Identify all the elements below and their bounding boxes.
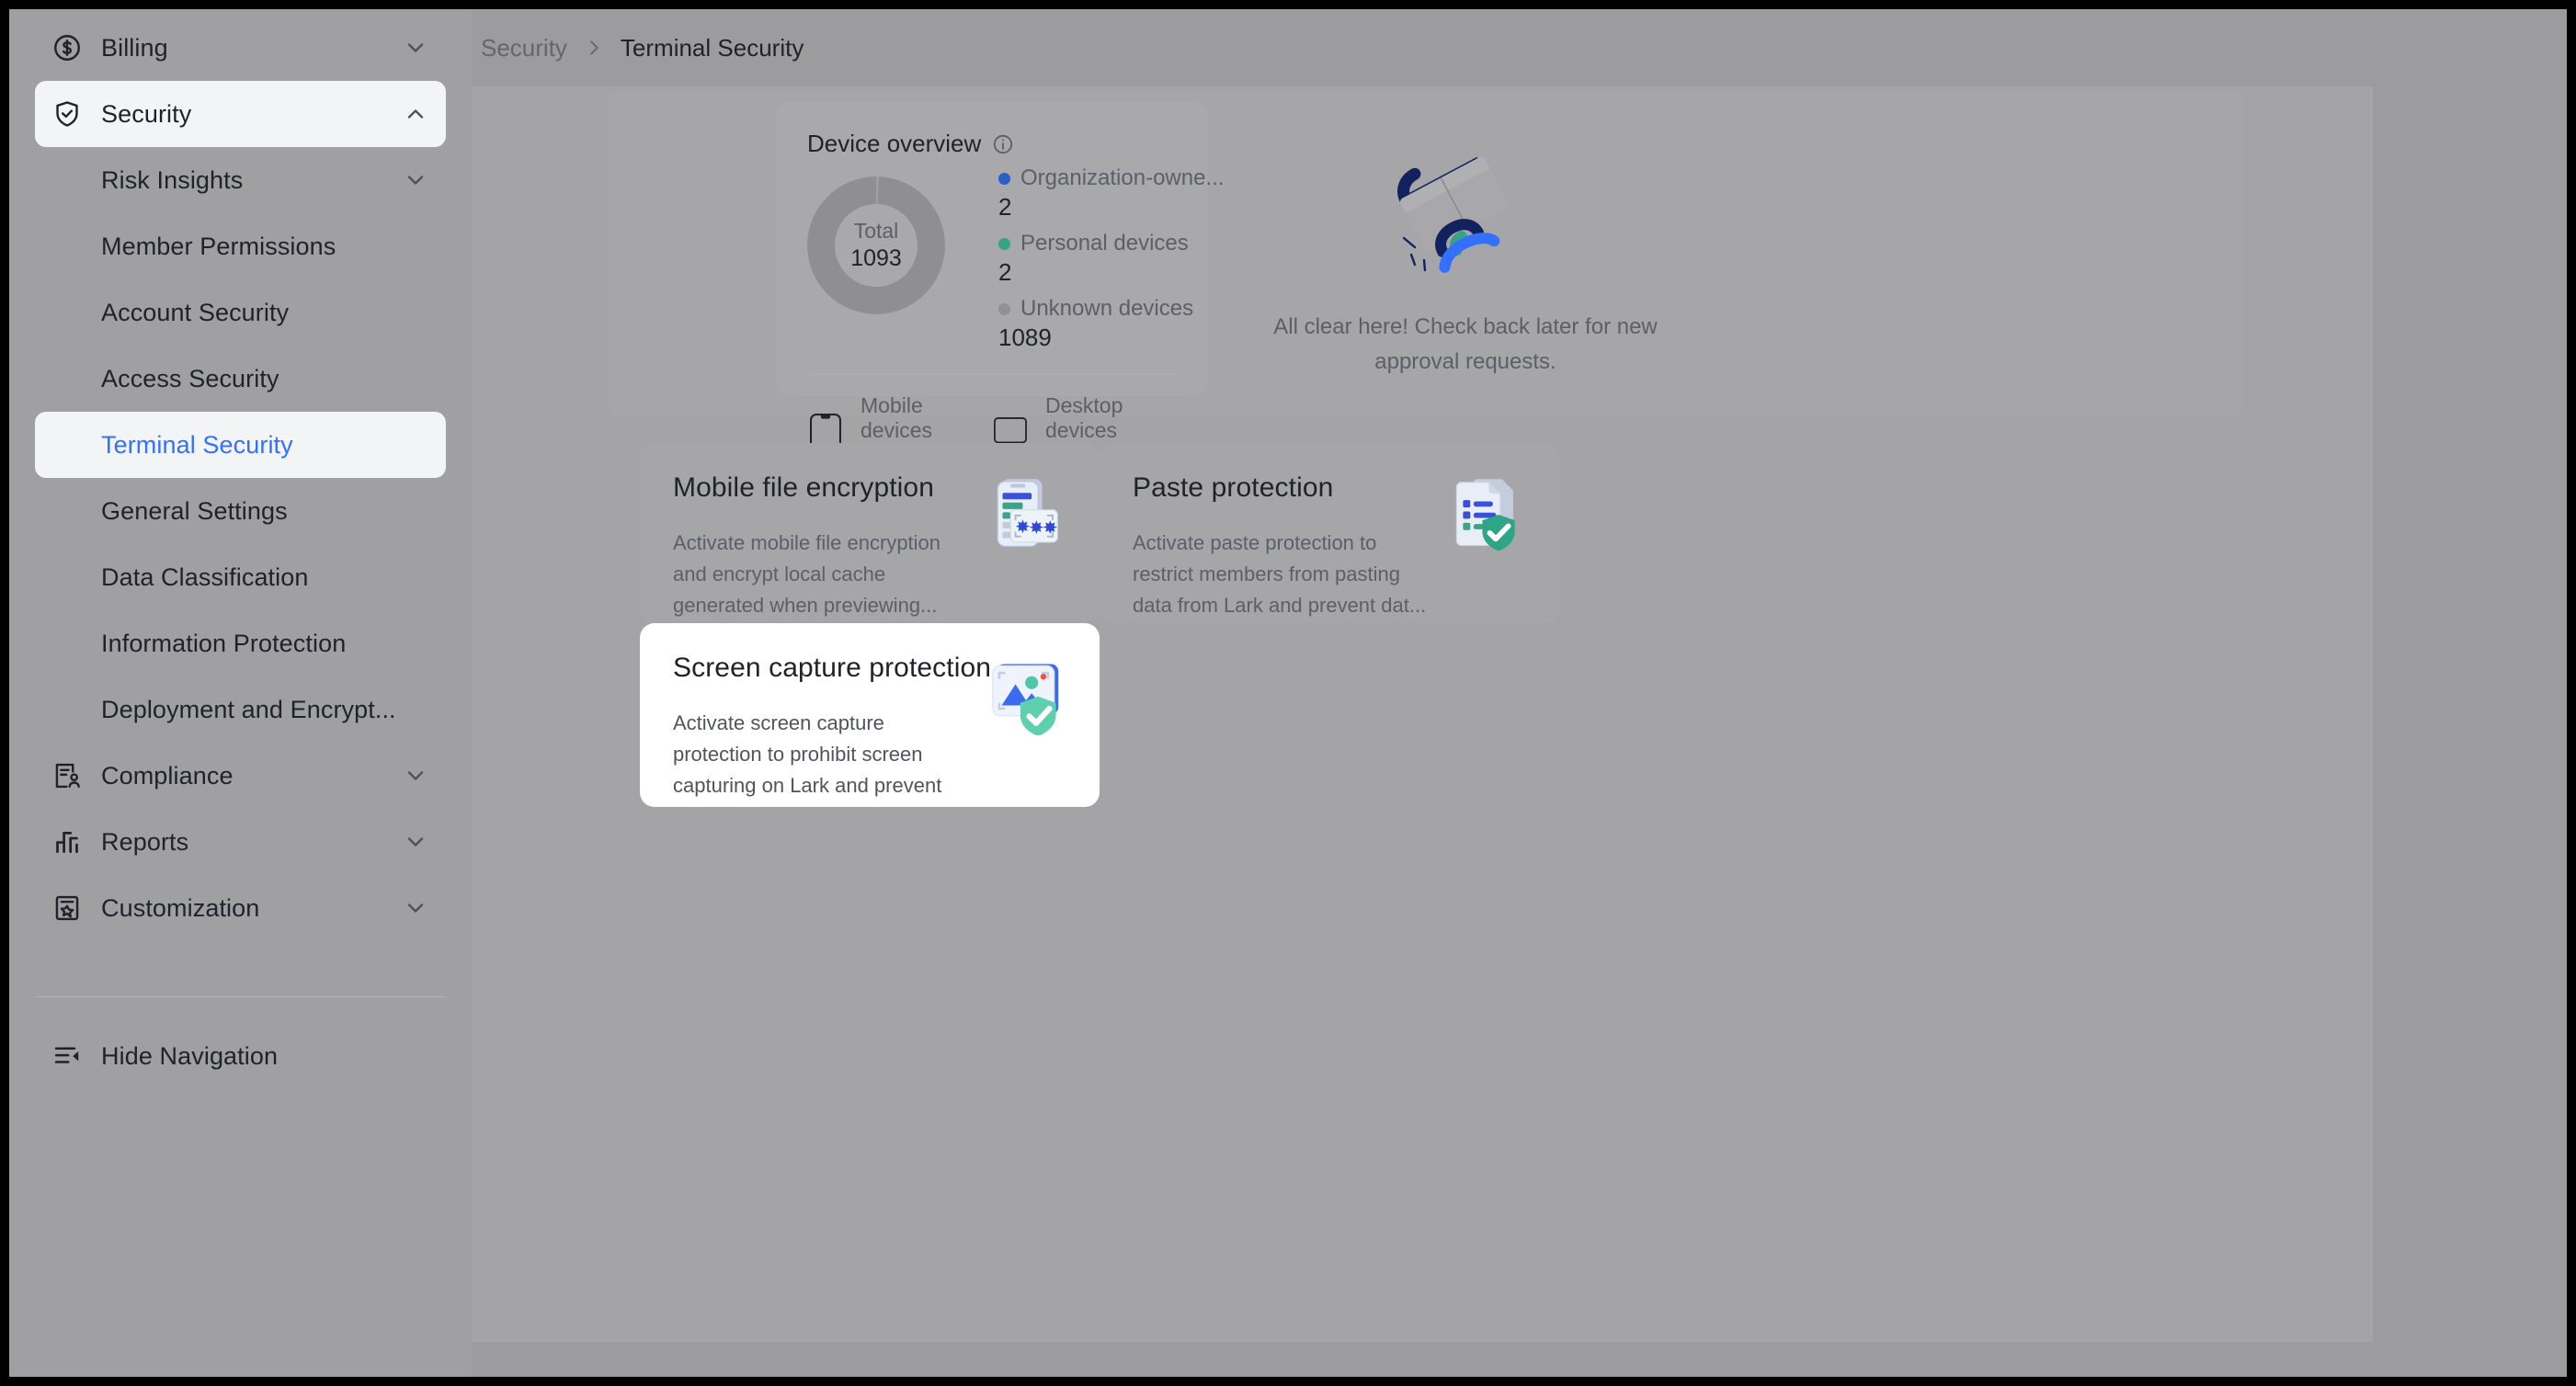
sidebar-item-information-protection[interactable]: Information Protection bbox=[35, 610, 446, 676]
chevron-right-icon bbox=[584, 38, 604, 58]
feature-card-description: Activate screen capture protection to pr… bbox=[673, 708, 976, 807]
feature-card-paste-protection[interactable]: Paste protection Activate paste protecti… bbox=[1100, 443, 1559, 623]
image-shield-icon bbox=[986, 654, 1066, 735]
device-overview-header: Device overview bbox=[807, 130, 1177, 158]
sidebar-item-member-permissions[interactable]: Member Permissions bbox=[35, 213, 446, 279]
sidebar-item-label: Information Protection bbox=[101, 630, 346, 658]
device-donut-chart: Total 1093 bbox=[807, 176, 945, 314]
chevron-down-icon[interactable] bbox=[402, 762, 429, 790]
device-overview-body: Total 1093 Organization-owne... bbox=[807, 164, 1177, 361]
legend-value: 2 bbox=[998, 193, 1224, 222]
sidebar-item-billing[interactable]: Billing bbox=[35, 15, 446, 81]
approval-requests-card: All clear here! Check back later for new… bbox=[1236, 102, 1695, 396]
chevron-down-icon[interactable] bbox=[402, 166, 429, 194]
breadcrumb: Security Terminal Security bbox=[472, 9, 2567, 86]
desktop-devices-label: Desktop devices bbox=[1045, 393, 1177, 443]
sidebar-item-label: Risk Insights bbox=[101, 166, 243, 195]
hide-navigation-label: Hide Navigation bbox=[101, 1042, 278, 1071]
info-icon[interactable] bbox=[992, 133, 1014, 155]
sidebar-item-label: Deployment and Encrypt... bbox=[101, 696, 396, 724]
legend-label: Unknown devices bbox=[1020, 296, 1193, 322]
sidebar-item-label: Security bbox=[101, 100, 191, 129]
chevron-down-icon[interactable] bbox=[402, 34, 429, 62]
sidebar-item-label: Account Security bbox=[101, 299, 289, 327]
legend-dot-personal bbox=[998, 238, 1010, 250]
approval-empty-message: All clear here! Check back later for new… bbox=[1272, 310, 1658, 380]
sidebar-item-risk-insights[interactable]: Risk Insights bbox=[35, 147, 446, 213]
feature-card-description: Activate mobile file encryption and encr… bbox=[673, 528, 976, 621]
sidebar-item-security[interactable]: Security bbox=[35, 81, 446, 147]
legend-item: Organization-owne... 2 bbox=[998, 165, 1224, 222]
sidebar-item-compliance[interactable]: Compliance bbox=[35, 743, 446, 809]
sidebar-divider bbox=[35, 996, 446, 997]
donut-center: Total 1093 bbox=[807, 176, 945, 314]
sidebar-item-customization[interactable]: Customization bbox=[35, 875, 446, 941]
feature-card-mobile-file-encryption[interactable]: Mobile file encryption Activate mobile f… bbox=[640, 443, 1100, 623]
donut-total-value: 1093 bbox=[850, 244, 902, 273]
legend-item: Personal devices 2 bbox=[998, 231, 1224, 287]
document-shield-icon bbox=[1445, 474, 1526, 555]
sidebar-item-terminal-security[interactable]: Terminal Security bbox=[35, 412, 446, 478]
overview-divider bbox=[807, 374, 1177, 375]
legend-label: Organization-owne... bbox=[1020, 165, 1224, 191]
sidebar-item-account-security[interactable]: Account Security bbox=[35, 279, 446, 346]
sidebar-item-label: Data Classification bbox=[101, 563, 309, 592]
main-content: Security Terminal Security Device overvi… bbox=[472, 9, 2567, 1377]
content-panel: Device overview Total bbox=[472, 86, 2373, 1342]
sidebar-item-general-settings[interactable]: General Settings bbox=[35, 478, 446, 544]
hide-navigation-icon bbox=[50, 1039, 85, 1074]
bar-chart-icon bbox=[50, 824, 85, 859]
chevron-down-icon[interactable] bbox=[402, 828, 429, 856]
sidebar-item-label: Compliance bbox=[101, 762, 234, 790]
sidebar: Billing Security Risk Insights bbox=[9, 9, 472, 1377]
sidebar-spacer bbox=[9, 941, 472, 969]
empty-approval-box-illustration bbox=[1360, 130, 1571, 304]
mobile-devices-label: Mobile devices bbox=[861, 393, 992, 443]
feature-card-description: Activate paste protection to restrict me… bbox=[1133, 528, 1436, 621]
compliance-icon bbox=[50, 758, 85, 793]
overview-block: Device overview Total bbox=[608, 90, 2244, 415]
donut-total-label: Total bbox=[854, 218, 899, 244]
sidebar-item-label: Reports bbox=[101, 828, 188, 857]
breadcrumb-current: Terminal Security bbox=[621, 34, 804, 62]
phone-password-icon bbox=[986, 474, 1066, 555]
device-legend: Organization-owne... 2 Personal devices bbox=[998, 164, 1224, 361]
shield-check-icon bbox=[50, 97, 85, 131]
sidebar-item-label: Customization bbox=[101, 894, 259, 923]
sidebar-item-label: General Settings bbox=[101, 497, 288, 526]
dollar-circle-icon bbox=[50, 30, 85, 65]
legend-label: Personal devices bbox=[1020, 231, 1189, 256]
legend-item: Unknown devices 1089 bbox=[998, 296, 1224, 352]
legend-value: 1089 bbox=[998, 324, 1224, 352]
legend-dot-unknown bbox=[998, 303, 1010, 315]
device-overview-card: Device overview Total bbox=[776, 102, 1208, 396]
customization-star-icon bbox=[50, 891, 85, 926]
sidebar-item-label: Terminal Security bbox=[101, 431, 293, 460]
sidebar-item-label: Billing bbox=[101, 34, 168, 62]
feature-card-screen-capture-protection[interactable]: Screen capture protection Activate scree… bbox=[640, 623, 1100, 807]
hide-navigation-button[interactable]: Hide Navigation bbox=[35, 1023, 446, 1089]
sidebar-item-label: Member Permissions bbox=[101, 233, 336, 261]
breadcrumb-parent[interactable]: Security bbox=[481, 34, 567, 62]
device-overview-title: Device overview bbox=[807, 130, 981, 158]
chevron-up-icon[interactable] bbox=[402, 100, 429, 128]
sidebar-item-access-security[interactable]: Access Security bbox=[35, 346, 446, 412]
legend-value: 2 bbox=[998, 258, 1224, 287]
content-scroll-area: Device overview Total bbox=[472, 86, 2567, 1377]
legend-dot-organization bbox=[998, 173, 1010, 185]
app-window: Billing Security Risk Insights bbox=[9, 9, 2567, 1377]
sidebar-item-label: Access Security bbox=[101, 365, 279, 393]
sidebar-item-deployment-and-encryption[interactable]: Deployment and Encrypt... bbox=[35, 676, 446, 743]
chevron-down-icon[interactable] bbox=[402, 894, 429, 922]
sidebar-item-reports[interactable]: Reports bbox=[35, 809, 446, 875]
sidebar-item-data-classification[interactable]: Data Classification bbox=[35, 544, 446, 610]
